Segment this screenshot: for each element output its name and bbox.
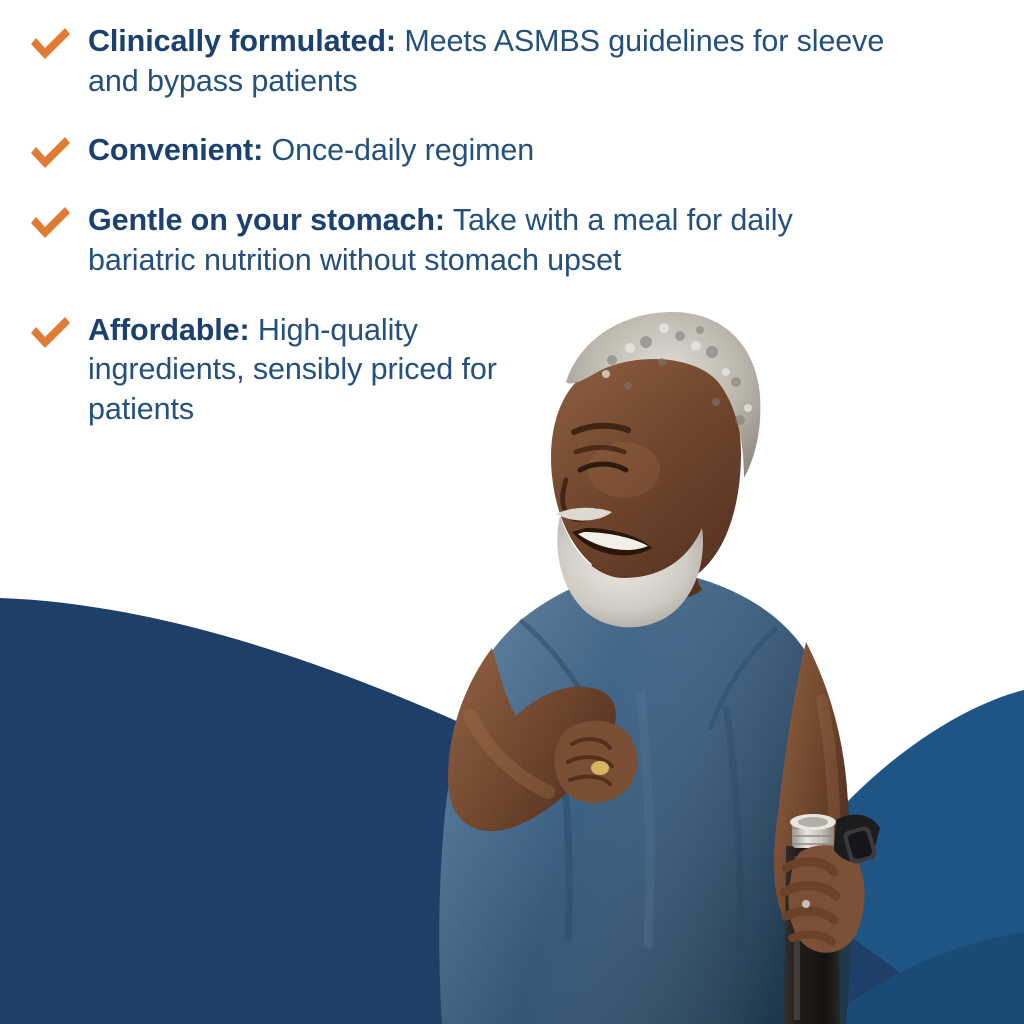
wave-right-medium xyxy=(728,690,1024,1024)
wave-left-dark xyxy=(0,598,940,1024)
neck xyxy=(588,500,702,604)
list-item-text: Clinically formulated: Meets ASMBS guide… xyxy=(88,22,898,101)
list-item: Gentle on your stomach: Take with a meal… xyxy=(0,201,920,280)
list-item: Clinically formulated: Meets ASMBS guide… xyxy=(0,22,920,101)
right-hand xyxy=(784,845,865,953)
check-icon xyxy=(28,22,72,62)
list-item: Affordable: High-quality ingredients, se… xyxy=(0,311,920,430)
torso-shirt xyxy=(439,568,852,1024)
fist xyxy=(554,721,637,803)
list-item-body: Once-daily regimen xyxy=(263,133,534,167)
ring xyxy=(591,761,609,775)
list-item-lead: Gentle on your stomach: xyxy=(88,203,445,237)
list-item-text: Affordable: High-quality ingredients, se… xyxy=(88,311,508,430)
check-icon xyxy=(28,311,72,351)
list-item: Convenient: Once-daily regimen xyxy=(0,131,920,171)
wave-left-light xyxy=(0,712,1024,1024)
smartwatch xyxy=(834,814,880,865)
benefits-list: Clinically formulated: Meets ASMBS guide… xyxy=(0,0,920,455)
check-icon xyxy=(28,131,72,171)
list-item-text: Convenient: Once-daily regimen xyxy=(88,131,788,171)
right-arm xyxy=(774,642,848,933)
water-bottle xyxy=(784,814,840,1024)
wave-right-deep xyxy=(826,932,1024,1024)
list-item-lead: Clinically formulated: xyxy=(88,24,396,58)
list-item-lead: Affordable: xyxy=(88,313,250,347)
list-item-text: Gentle on your stomach: Take with a meal… xyxy=(88,201,878,280)
promo-graphic: Clinically formulated: Meets ASMBS guide… xyxy=(0,0,1024,1024)
left-arm xyxy=(448,648,637,831)
list-item-lead: Convenient: xyxy=(88,133,263,167)
check-icon xyxy=(28,201,72,241)
